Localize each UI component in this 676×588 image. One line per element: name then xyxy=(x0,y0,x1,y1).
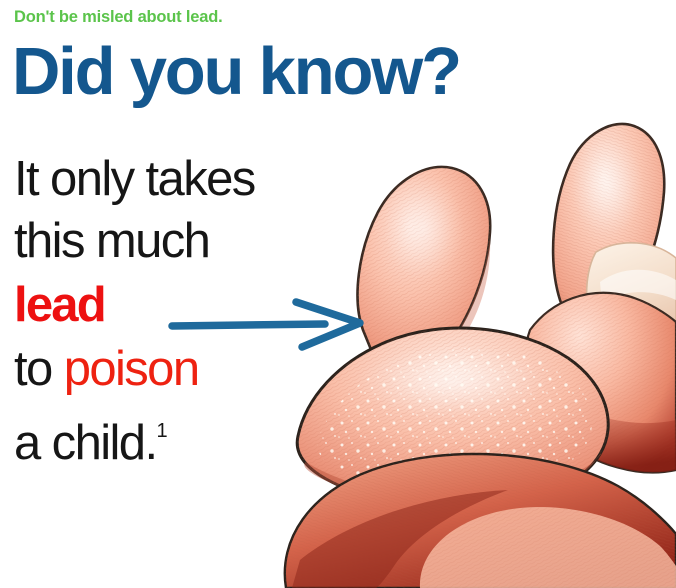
body-line-5: a child.1 xyxy=(14,400,344,474)
highlight-word-lead: lead xyxy=(14,278,105,332)
right-arrow-icon xyxy=(168,296,378,352)
poster-text: Don't be misled about lead. Did you know… xyxy=(0,0,676,588)
body-line-2: this much xyxy=(14,210,344,272)
page-title: Did you know? xyxy=(12,36,460,108)
body-line-1: It only takes xyxy=(14,148,344,210)
body-word-to: to xyxy=(14,342,64,396)
lead-awareness-poster: Don't be misled about lead. Did you know… xyxy=(0,0,676,588)
footnote-reference-mark: 1 xyxy=(156,420,167,442)
body-line-5-text: a child. xyxy=(14,416,156,470)
bottom-cutoff-caption xyxy=(0,579,676,588)
kicker-text: Don't be misled about lead. xyxy=(14,8,222,27)
arrow-svg xyxy=(168,296,378,352)
